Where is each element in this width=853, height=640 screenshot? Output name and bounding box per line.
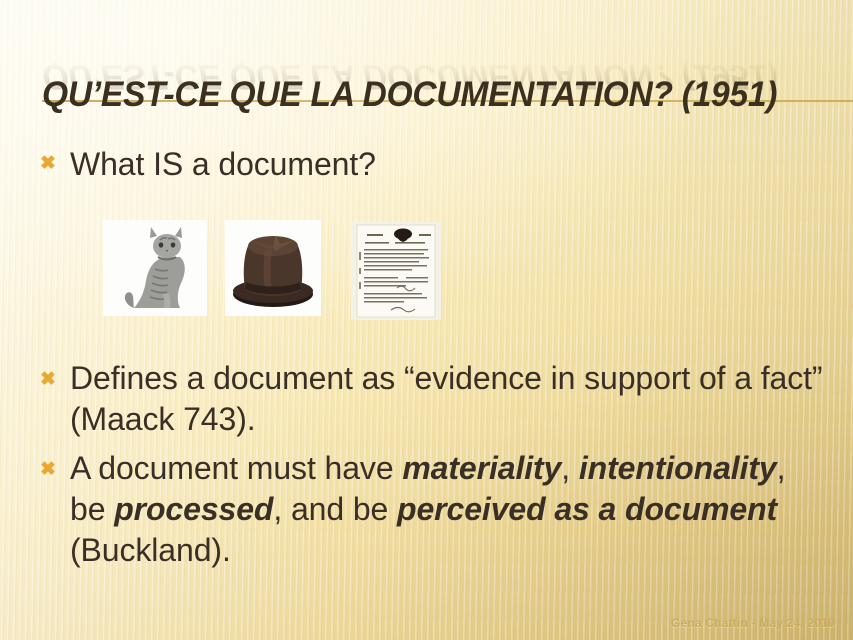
plain-text: , and be [273, 491, 397, 527]
body-content: ✖ What IS a document? ✖ Defines a docume… [0, 142, 853, 571]
cross-bullet-icon: ✖ [40, 358, 70, 402]
cross-bullet-icon: ✖ [40, 448, 70, 492]
emphasized-term: materiality [402, 450, 561, 486]
bullet-text-3: A document must have materiality, intent… [70, 448, 823, 571]
emphasized-term: perceived as a document [397, 491, 777, 527]
bullet-item-3: ✖ A document must have materiality, inte… [0, 448, 853, 571]
cat-photo [103, 220, 207, 316]
plain-text: (Buckland). [70, 532, 231, 568]
image-strip [0, 216, 853, 322]
bullet-item-2: ✖ Defines a document as “evidence in sup… [0, 358, 853, 440]
title-block: Qu’est-ce que la documentation? (1951) Q… [0, 52, 853, 152]
bullet-text-2: Defines a document as “evidence in suppo… [70, 358, 823, 440]
bullet-item-1: ✖ What IS a document? [0, 142, 853, 186]
cross-bullet-icon: ✖ [40, 142, 70, 186]
page-title: Qu’est-ce que la documentation? (1951) [42, 75, 777, 115]
top-hat-illustration-icon [225, 220, 321, 316]
top-hat-photo [225, 220, 321, 316]
footer-credit: Gena Chattin - May 24, 2010 [671, 616, 835, 630]
certificate-document-icon [351, 222, 441, 320]
emphasized-term: intentionality [579, 450, 777, 486]
plain-text: A document must have [70, 450, 402, 486]
document-scan [351, 222, 441, 320]
bullet-text-1: What IS a document? [70, 142, 823, 186]
slide-canvas: Qu’est-ce que la documentation? (1951) Q… [0, 0, 853, 640]
plain-text: , [561, 450, 579, 486]
cat-illustration-icon [103, 220, 207, 316]
emphasized-term: processed [114, 491, 273, 527]
